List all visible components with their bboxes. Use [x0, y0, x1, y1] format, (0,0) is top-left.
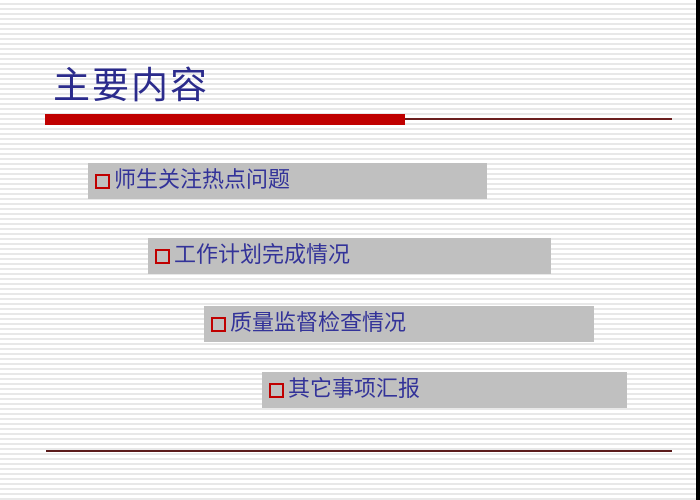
slide-frame-right-border	[696, 0, 700, 500]
agenda-item-4[interactable]: 其它事项汇报	[262, 372, 627, 408]
agenda-item-label: 工作计划完成情况	[174, 244, 350, 268]
agenda-item-label: 其它事项汇报	[288, 378, 420, 402]
title-divider-accent-bar	[45, 114, 405, 125]
hollow-square-bullet-icon	[155, 249, 170, 264]
agenda-item-3[interactable]: 质量监督检查情况	[204, 306, 594, 342]
footer-divider	[46, 450, 672, 452]
agenda-item-1[interactable]: 师生关注热点问题	[88, 163, 487, 199]
agenda-item-2[interactable]: 工作计划完成情况	[148, 238, 551, 274]
hollow-square-bullet-icon	[211, 317, 226, 332]
agenda-item-label: 质量监督检查情况	[230, 312, 406, 336]
hollow-square-bullet-icon	[95, 174, 110, 189]
hollow-square-bullet-icon	[269, 383, 284, 398]
title-divider	[45, 114, 672, 125]
presentation-slide: 主要内容 师生关注热点问题 工作计划完成情况 质量监督检查情况 其它事项汇报	[0, 0, 700, 500]
agenda-item-label: 师生关注热点问题	[114, 169, 290, 193]
page-title: 主要内容	[53, 62, 209, 110]
title-divider-tail-line	[405, 118, 672, 120]
